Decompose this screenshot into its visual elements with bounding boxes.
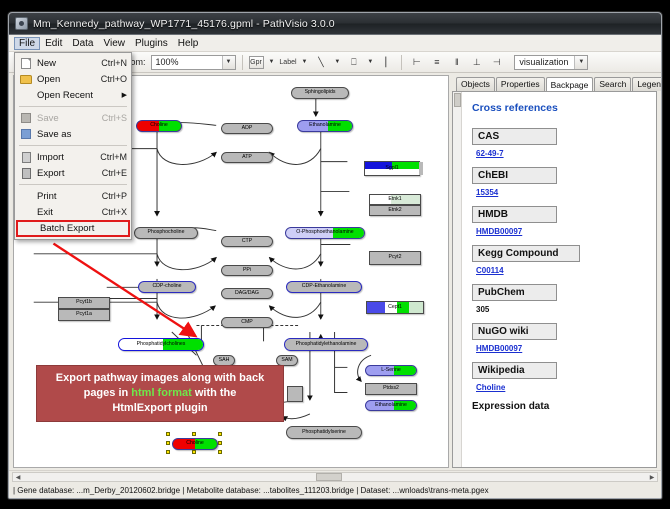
menu-plugins[interactable]: Plugins	[130, 37, 173, 50]
menu-item-exit[interactable]: Exit Ctrl+X	[15, 204, 131, 220]
visualization-value: visualization	[519, 57, 574, 67]
callout-line3: HtmlExport plugin	[112, 402, 207, 414]
node-reaction-box[interactable]	[287, 386, 303, 402]
menu-item-open-recent-label: Open Recent	[37, 90, 122, 101]
horizontal-scrollbar[interactable]: ◀ ▶	[12, 472, 658, 482]
node-atp[interactable]: ATP	[221, 152, 273, 163]
xref-block-cas: CAS 62-49-7	[472, 128, 648, 158]
xref-link[interactable]: HMDB00097	[476, 227, 522, 236]
xref-link[interactable]: HMDB00097	[476, 344, 522, 353]
node-phosphocholine[interactable]: Phosphocholine	[134, 227, 198, 239]
xref-value: 15354	[472, 184, 648, 197]
menu-item-open-accel: Ctrl+O	[101, 74, 127, 84]
node-ppi[interactable]: PPi	[221, 265, 273, 276]
node-choline-top[interactable]: Choline	[136, 120, 182, 132]
xref-block-kegg: Kegg Compound C00114	[472, 245, 648, 275]
anchor-button[interactable]: ⎢	[378, 54, 395, 70]
file-dropdown-menu: New Ctrl+N Open Ctrl+O Open Recent ▶ Sav…	[14, 52, 132, 240]
node-sgpl1[interactable]: Sgpl1	[364, 161, 420, 176]
node-cmp[interactable]: CMP	[221, 317, 273, 328]
xref-source-label: Kegg Compound	[472, 245, 580, 262]
node-o-phosphoethanolamine[interactable]: O-Phosphoethanolamine	[285, 227, 365, 239]
side-panel: Objects Properties Backpage Search Legen…	[452, 75, 657, 468]
xref-block-nugo: NuGO wiki HMDB00097	[472, 323, 648, 353]
node-label: Phosphatidylethanolamine	[296, 342, 357, 347]
xref-value: 62-49-7	[472, 145, 648, 158]
chevron-down-icon[interactable]: ▼	[222, 56, 235, 69]
xref-source-label: Wikipedia	[472, 362, 557, 379]
node-label: O-Phosphoethanolamine	[286, 230, 364, 235]
node-label: Etnk1	[388, 197, 401, 202]
submenu-arrow-icon: ▶	[122, 91, 127, 99]
screenshot-root: Mm_Kennedy_pathway_WP1771_45176.gpml - P…	[0, 0, 670, 509]
menu-help[interactable]: Help	[173, 37, 204, 50]
scroll-thumb[interactable]	[316, 473, 342, 481]
node-cdp-choline[interactable]: CDP-choline	[138, 281, 196, 293]
status-text: | Gene database: ...m_Derby_20120602.bri…	[13, 484, 657, 497]
align-bottom-button[interactable]: ⊥	[468, 54, 485, 70]
import-icon	[19, 151, 33, 163]
pathvisio-window: Mm_Kennedy_pathway_WP1771_45176.gpml - P…	[8, 12, 662, 499]
menu-item-save: Save Ctrl+S	[15, 110, 131, 126]
backpage-scrollbar[interactable]	[453, 92, 462, 467]
node-cdp-ethanolamine[interactable]: CDP-Ethanolamine	[286, 281, 362, 293]
menu-item-exit-label: Exit	[37, 207, 96, 218]
xref-link[interactable]: C00114	[476, 266, 504, 275]
node-label: Sphingolipids	[305, 90, 336, 95]
geneproduct-button[interactable]: Gpr	[249, 56, 264, 69]
node-ethanolamine-2[interactable]: Ethanolamine	[365, 400, 417, 411]
node-label: CDP-choline	[152, 284, 181, 289]
xref-block-hmdb: HMDB HMDB00097	[472, 206, 648, 236]
blank-icon-2	[19, 190, 33, 202]
node-phosphatidylcholines[interactable]: Phosphatidylcholines	[118, 338, 204, 351]
callout-line2-highlight: html format	[131, 387, 192, 399]
node-sphingolipids[interactable]: Sphingolipids	[291, 87, 349, 99]
node-pcyt2[interactable]: Pcyt2	[369, 251, 421, 265]
menu-separator-3	[19, 184, 127, 185]
node-cept1[interactable]: Cept1	[366, 301, 424, 314]
menu-file[interactable]: File	[14, 37, 40, 50]
label-button[interactable]: Label	[279, 54, 296, 70]
annotation-callout: Export pathway images along with back pa…	[36, 365, 284, 422]
menu-item-new-accel: Ctrl+N	[101, 58, 127, 68]
pathvisio-app-icon	[15, 17, 28, 30]
tab-backpage[interactable]: Backpage	[546, 77, 594, 92]
blank-icon	[19, 89, 33, 101]
geneproduct-dropdown-icon[interactable]: ▼	[267, 59, 277, 65]
menu-item-exit-accel: Ctrl+X	[102, 207, 127, 217]
menu-item-new[interactable]: New Ctrl+N	[15, 55, 131, 71]
menu-item-save-accel: Ctrl+S	[102, 113, 127, 123]
window-title: Mm_Kennedy_pathway_WP1771_45176.gpml - P…	[33, 18, 335, 30]
backpage-panel: Cross references CAS 62-49-7 ChEBI 15354…	[452, 91, 657, 468]
node-label: Choline	[137, 123, 181, 128]
node-label: L-Serine	[366, 368, 416, 373]
toolbar-separator-2	[401, 55, 402, 70]
menu-item-save-as-label: Save as	[37, 129, 121, 140]
xref-value: HMDB00097	[472, 223, 648, 236]
chevron-down-icon-2[interactable]: ▼	[574, 56, 587, 69]
node-label: Sgpl1	[385, 166, 398, 171]
node-ptdss2[interactable]: Ptdss2	[365, 383, 417, 395]
align-right-button[interactable]: ⊣	[488, 54, 505, 70]
node-adp[interactable]: ADP	[221, 123, 273, 134]
node-label: Phosphatidylcholines	[119, 342, 203, 347]
callout-line2-b: with the	[192, 387, 237, 399]
tab-legend[interactable]: Legend	[632, 77, 662, 91]
node-label: Cept1	[388, 305, 402, 310]
node-etnk1[interactable]: Etnk1	[369, 194, 421, 205]
node-phosphatidylethanolamine[interactable]: Phosphatidylethanolamine	[284, 338, 368, 351]
xref-link[interactable]: 62-49-7	[476, 149, 504, 158]
node-ctp[interactable]: CTP	[221, 236, 273, 247]
tab-objects[interactable]: Objects	[456, 77, 495, 91]
xref-source-label: PubChem	[472, 284, 557, 301]
save-as-icon	[19, 128, 33, 140]
node-label: CMP	[241, 320, 253, 325]
xref-block-pubchem: PubChem 305	[472, 284, 648, 314]
node-label: ADP	[242, 126, 253, 131]
xref-link[interactable]: 15354	[476, 188, 498, 197]
xref-link[interactable]: Choline	[476, 383, 505, 392]
node-dag[interactable]: DAG/DAG	[221, 288, 273, 299]
node-label: SAH	[219, 358, 230, 363]
open-folder-icon	[19, 73, 33, 85]
tab-properties[interactable]: Properties	[496, 77, 545, 91]
align-width-button[interactable]: ‖	[448, 54, 465, 70]
xref-source-label: NuGO wiki	[472, 323, 557, 340]
menu-item-print[interactable]: Print Ctrl+P	[15, 188, 131, 204]
node-l-serine[interactable]: L-Serine	[365, 365, 417, 376]
xref-source-label: CAS	[472, 128, 557, 145]
node-phosphatidylserine[interactable]: Phosphatidylserine	[286, 426, 362, 439]
node-etnk2[interactable]: Etnk2	[369, 205, 421, 216]
menu-item-new-label: New	[37, 58, 95, 69]
node-label: Pcyt1b	[76, 300, 92, 305]
node-pcyt1a[interactable]: Pcyt1a	[58, 309, 110, 321]
node-label: Phosphocholine	[148, 230, 185, 235]
zoom-value: 100%	[156, 57, 222, 67]
node-label: Pcyt1a	[76, 312, 92, 317]
blank-icon-4	[22, 223, 36, 235]
interaction-button[interactable]: ⎕	[345, 54, 362, 70]
menu-item-batch-export-label: Batch Export	[40, 223, 124, 234]
menu-separator-2	[19, 145, 127, 146]
node-label: PPi	[243, 268, 251, 273]
menu-separator-1	[19, 106, 127, 107]
menu-data[interactable]: Data	[67, 37, 98, 50]
export-icon	[19, 167, 33, 179]
zoom-combobox[interactable]: 100% ▼	[151, 55, 236, 70]
side-panel-tabs: Objects Properties Backpage Search Legen…	[452, 75, 657, 91]
menu-item-print-accel: Ctrl+P	[102, 191, 127, 201]
interaction-dropdown-icon[interactable]: ▼	[365, 59, 375, 65]
expression-data-heading: Expression data	[472, 401, 648, 412]
scroll-track[interactable]	[23, 473, 647, 481]
menu-view[interactable]: View	[98, 37, 130, 50]
node-label: Ethanolamine	[366, 403, 416, 408]
node-label: CDP-Ethanolamine	[302, 284, 346, 289]
node-label: DAG/DAG	[235, 291, 259, 296]
menu-item-import[interactable]: Import Ctrl+M	[15, 149, 131, 165]
node-label: Etnk2	[388, 208, 401, 213]
menu-item-print-label: Print	[37, 191, 96, 202]
line-dropdown-icon[interactable]: ▼	[332, 59, 342, 65]
callout-line1: Export pathway images along with back	[56, 372, 264, 384]
menu-item-save-label: Save	[37, 113, 96, 124]
xref-source-label: HMDB	[472, 206, 557, 223]
callout-line2-a: pages in	[84, 387, 132, 399]
visualization-combobox[interactable]: visualization ▼	[514, 55, 588, 70]
xref-value: 305	[472, 301, 648, 314]
toolbar-separator	[242, 55, 243, 70]
menu-item-batch-export[interactable]: Batch Export	[16, 220, 130, 237]
node-ethanolamine-1[interactable]: Ethanolamine	[297, 120, 353, 132]
scrollbar-thumb[interactable]	[454, 93, 461, 107]
node-label: Pcyt2	[389, 255, 402, 260]
save-icon	[19, 112, 33, 124]
tab-search[interactable]: Search	[594, 77, 631, 91]
align-left-button[interactable]: ⊢	[408, 54, 425, 70]
node-label: SAM	[281, 358, 292, 363]
xref-value: Choline	[472, 379, 648, 392]
menu-item-import-accel: Ctrl+M	[100, 152, 127, 162]
xref-block-wikipedia: Wikipedia Choline	[472, 362, 648, 392]
menu-edit[interactable]: Edit	[40, 37, 67, 50]
xref-source-label: ChEBI	[472, 167, 557, 184]
menu-item-import-label: Import	[37, 152, 94, 163]
node-pcyt1b[interactable]: Pcyt1b	[58, 297, 110, 309]
node-label: CTP	[242, 239, 252, 244]
label-dropdown-icon[interactable]: ▼	[299, 59, 309, 65]
scroll-right-icon[interactable]: ▶	[647, 474, 657, 481]
node-label: Ethanolamine	[298, 123, 352, 128]
menu-item-open[interactable]: Open Ctrl+O	[15, 71, 131, 87]
xref-value: C00114	[472, 262, 648, 275]
menu-item-export-accel: Ctrl+E	[102, 168, 127, 178]
line-button[interactable]: ╲	[312, 54, 329, 70]
menu-item-export-label: Export	[37, 168, 96, 179]
menu-item-open-recent[interactable]: Open Recent ▶	[15, 87, 131, 103]
xref-block-chebi: ChEBI 15354	[472, 167, 648, 197]
align-center-button[interactable]: ≡	[428, 54, 445, 70]
menu-item-export[interactable]: Export Ctrl+E	[15, 165, 131, 181]
node-label: Ptdss2	[383, 386, 399, 391]
scroll-left-icon[interactable]: ◀	[13, 474, 23, 481]
menu-item-save-as[interactable]: Save as	[15, 126, 131, 142]
blank-icon-3	[19, 206, 33, 218]
node-label: Phosphatidylserine	[302, 430, 346, 435]
new-file-icon	[19, 57, 33, 69]
menubar: File Edit Data View Plugins Help	[9, 35, 661, 52]
xref-value: HMDB00097	[472, 340, 648, 353]
cross-references-heading: Cross references	[472, 102, 648, 114]
menu-item-open-label: Open	[37, 74, 95, 85]
selection-handles[interactable]	[166, 432, 224, 456]
status-bar: ◀ ▶ | Gene database: ...m_Derby_20120602…	[9, 470, 661, 498]
node-label: ATP	[242, 155, 252, 160]
window-titlebar: Mm_Kennedy_pathway_WP1771_45176.gpml - P…	[9, 13, 661, 35]
